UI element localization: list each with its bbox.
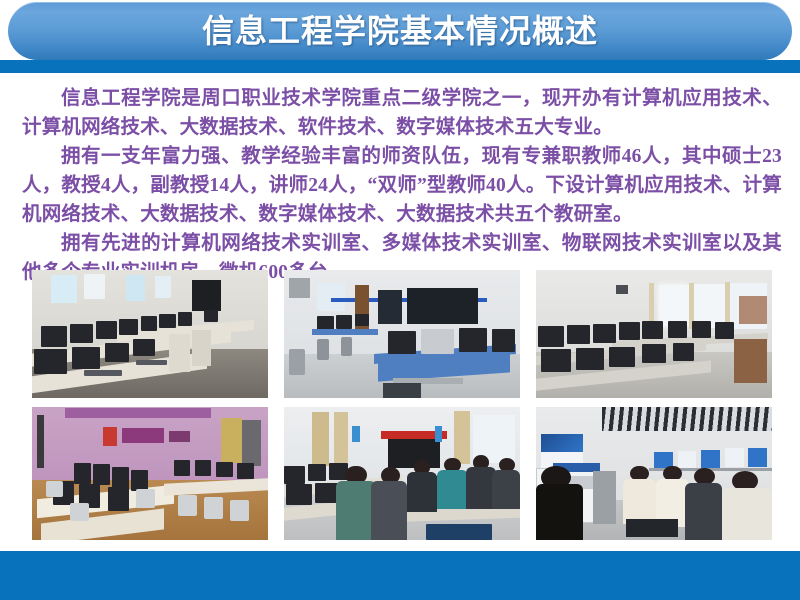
footer-bar — [0, 551, 800, 600]
photo-grid: 计算机机房一排排显示器 — [32, 270, 772, 542]
page-title: 信息工程学院基本情况概述 — [8, 2, 792, 60]
photo-students-at-computers: 学生上机实训现场 — [284, 407, 520, 540]
body-text-block: 信息工程学院是周口职业技术学院重点二级学院之一，现开办有计算机应用技术、计算机网… — [22, 84, 782, 287]
photo-network-server-room: 网络技术实训室蓝色操作台 — [284, 270, 520, 398]
slide-root: 信息工程学院基本情况概述 信息工程学院是周口职业技术学院重点二级学院之一，现开办… — [0, 0, 800, 600]
photo-iot-equipment-lab: 物联网技术实训室设备操作 — [536, 407, 772, 540]
photo-computer-lab-rows: 计算机机房一排排显示器 — [32, 270, 268, 398]
title-underbar — [0, 60, 800, 73]
photo-multimedia-lab-purple: 多媒体技术实训室紫色背景墙 — [32, 407, 268, 540]
paragraph-faculty: 拥有一支年富力强、教学经验丰富的师资队伍，现有专兼职教师46人，其中硕士23人，… — [22, 142, 782, 229]
paragraph-overview: 信息工程学院是周口职业技术学院重点二级学院之一，现开办有计算机应用技术、计算机网… — [22, 84, 782, 142]
title-banner: 信息工程学院基本情况概述 — [8, 2, 792, 60]
photo-classroom-windows: 靠窗计算机教室 — [536, 270, 772, 398]
